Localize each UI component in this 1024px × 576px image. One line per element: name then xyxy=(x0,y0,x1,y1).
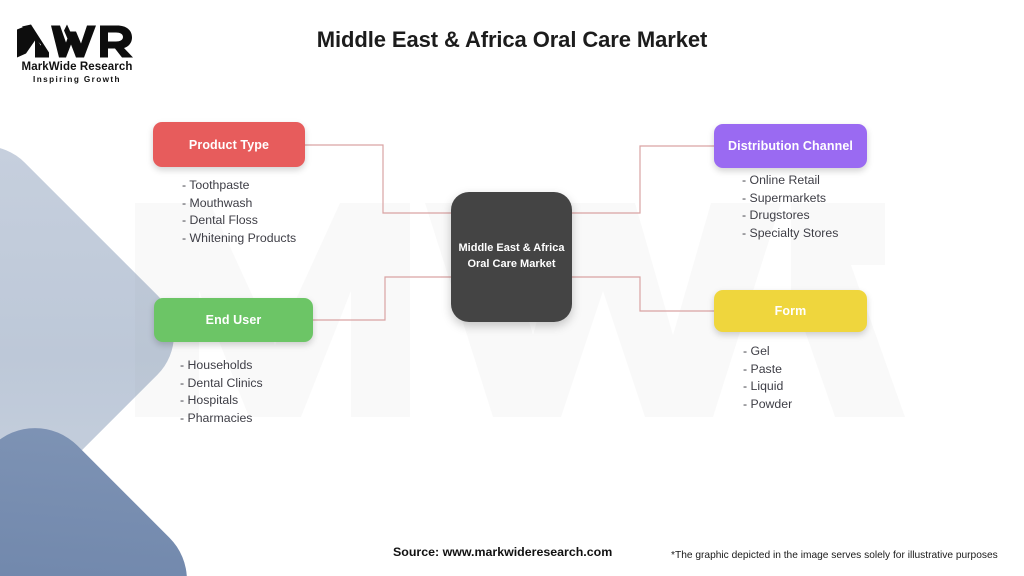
list-item: - Paste xyxy=(743,361,792,379)
node-label-end-user: End User xyxy=(206,313,262,327)
list-item: - Supermarkets xyxy=(742,190,838,208)
list-item: - Dental Clinics xyxy=(180,375,263,393)
list-item: - Whitening Products xyxy=(182,230,296,248)
list-item: - Toothpaste xyxy=(182,177,296,195)
list-item: - Pharmacies xyxy=(180,410,263,428)
list-item: - Drugstores xyxy=(742,207,838,225)
source-text: Source: www.markwideresearch.com xyxy=(393,545,612,559)
node-label-form: Form xyxy=(775,304,807,318)
connector-form xyxy=(569,277,714,311)
node-product-type[interactable]: Product Type xyxy=(153,122,305,167)
list-item: - Specialty Stores xyxy=(742,225,838,243)
list-item: - Powder xyxy=(743,396,792,414)
node-end-user[interactable]: End User xyxy=(154,298,313,342)
list-end-user: - Households - Dental Clinics - Hospital… xyxy=(180,357,263,427)
node-label-product-type: Product Type xyxy=(189,138,269,152)
list-form: - Gel - Paste - Liquid - Powder xyxy=(743,343,792,413)
list-item: - Online Retail xyxy=(742,172,838,190)
list-item: - Mouthwash xyxy=(182,195,296,213)
node-form[interactable]: Form xyxy=(714,290,867,332)
node-label-distribution-channel: Distribution Channel xyxy=(728,139,853,153)
list-item: - Gel xyxy=(743,343,792,361)
center-node-line1: Middle East & Africa xyxy=(459,241,565,257)
disclaimer-text: *The graphic depicted in the image serve… xyxy=(671,550,998,561)
list-item: - Dental Floss xyxy=(182,212,296,230)
list-item: - Hospitals xyxy=(180,392,263,410)
node-distribution-channel[interactable]: Distribution Channel xyxy=(714,124,867,168)
list-distribution-channel: - Online Retail - Supermarkets - Drugsto… xyxy=(742,172,838,242)
connector-end-user xyxy=(313,277,455,320)
list-item: - Liquid xyxy=(743,378,792,396)
list-product-type: - Toothpaste - Mouthwash - Dental Floss … xyxy=(182,177,296,247)
center-node-line2: Oral Care Market xyxy=(467,257,555,273)
diagram-canvas: MarkWide Research Inspiring Growth Middl… xyxy=(0,0,1024,576)
list-item: - Households xyxy=(180,357,263,375)
center-node[interactable]: Middle East & Africa Oral Care Market xyxy=(451,192,572,322)
connector-product-type xyxy=(305,145,455,213)
connector-distribution-channel xyxy=(569,146,714,213)
